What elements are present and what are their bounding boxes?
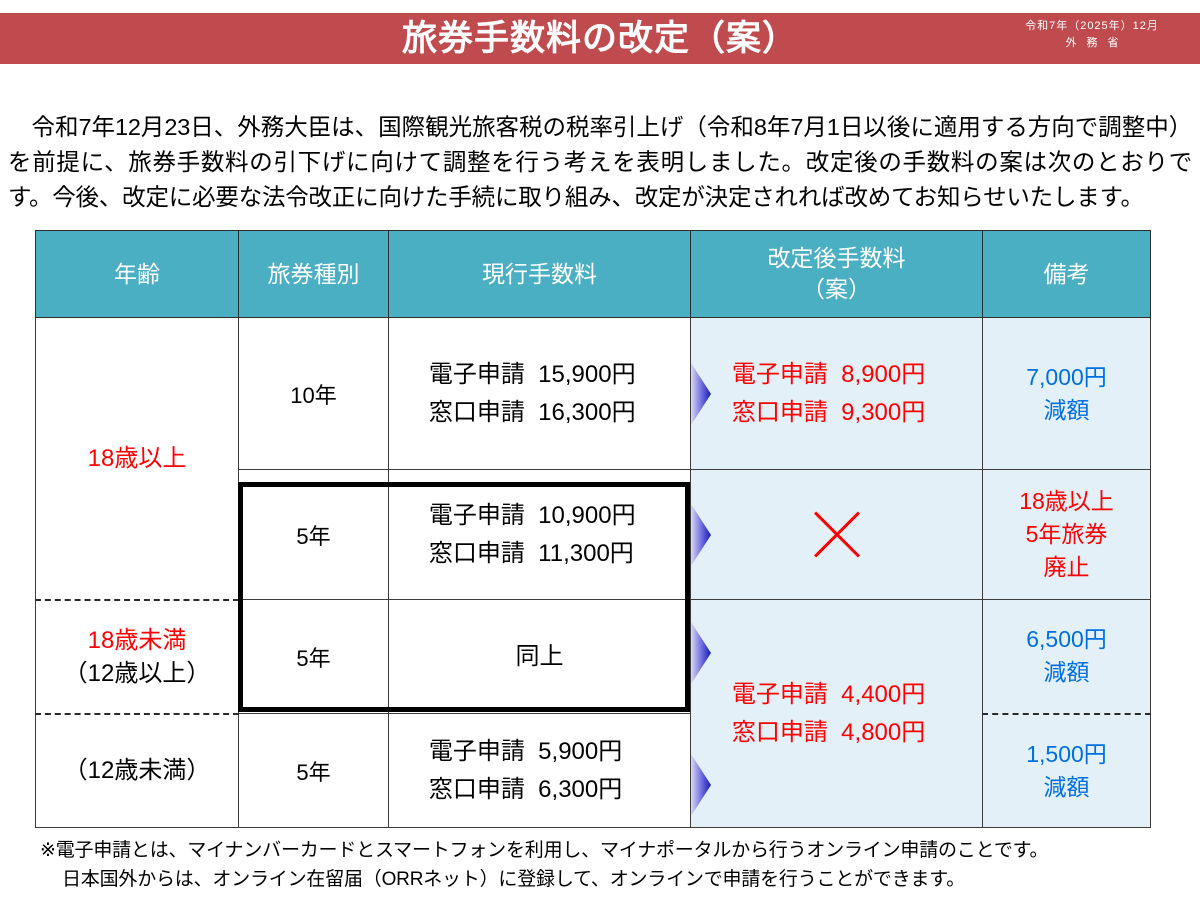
abolished-x-icon: [806, 504, 868, 566]
column-header-revised-fee-line1: 改定後手数料: [768, 245, 906, 271]
revised-fee-counter-row3: 窓口申請 4,800円: [691, 714, 982, 752]
cell-current-fee-row3: 同上: [389, 600, 691, 714]
note-row2-line3: 廃止: [1044, 554, 1090, 580]
footnote-line-2: 日本国外からは、オンライン在留届（ORRネット）に登録して、オンラインで申請を行…: [40, 865, 1180, 894]
cell-revised-fee-row2: [691, 470, 983, 600]
note-amount-row3: 6,500円: [1026, 626, 1107, 652]
column-header-revised-fee: 改定後手数料 （案）: [691, 231, 983, 318]
footnotes: ※電子申請とは、マイナンバーカードとスマートフォンを利用し、マイナポータルから行…: [40, 836, 1180, 894]
table-header-row: 年齢 旅券種別 現行手数料 改定後手数料 （案） 備考: [36, 231, 1151, 318]
note-reduction-row4: 減額: [1044, 774, 1090, 800]
column-header-note: 備考: [983, 231, 1151, 318]
age-label-under18: 18歳未満: [88, 627, 187, 654]
cell-revised-fee-row1: 電子申請 8,900円 窓口申請 9,300円: [691, 318, 983, 470]
revised-fee-counter-row1: 窓口申請 9,300円: [691, 394, 982, 432]
column-header-revised-fee-line2: （案）: [802, 276, 871, 302]
age-label-18-and-over: 18歳以上: [88, 445, 187, 472]
cell-note-row2: 18歳以上 5年旅券 廃止: [983, 470, 1151, 600]
age-label-under12: （12歳未満）: [64, 757, 211, 784]
table-row: 18歳以上 10年 電子申請 15,900円 窓口申請 16,300円: [36, 318, 1151, 470]
column-header-passport-type: 旅券種別: [239, 231, 389, 318]
cell-type-10y: 10年: [239, 318, 389, 470]
current-fee-counter-row4: 窓口申請 6,300円: [389, 771, 690, 809]
cell-revised-fee-row3: 電子申請 4,400円: [691, 600, 983, 714]
page-header-bar: 旅券手数料の改定（案） 令和7年（2025年）12月 外務省: [0, 13, 1200, 64]
fee-table: 年齢 旅券種別 現行手数料 改定後手数料 （案） 備考 18歳以上 10年 電子…: [35, 230, 1151, 828]
cell-current-fee-row1: 電子申請 15,900円 窓口申請 16,300円: [389, 318, 691, 470]
revised-fee-online-row1: 電子申請 8,900円: [691, 356, 982, 394]
note-row2-line1: 18歳以上: [1019, 488, 1114, 514]
table-row: （12歳未満） 5年 電子申請 5,900円 窓口申請 6,300円: [36, 714, 1151, 828]
cell-type-5y-under12: 5年: [239, 714, 389, 828]
cell-note-row4: 1,500円 減額: [983, 714, 1151, 828]
cell-current-fee-row4: 電子申請 5,900円 窓口申請 6,300円: [389, 714, 691, 828]
table-row: 18歳未満 （12歳以上） 5年 同上 電子申請 4,400円: [36, 600, 1151, 714]
arrow-right-icon: [691, 754, 713, 816]
column-header-age: 年齢: [36, 231, 239, 318]
note-reduction-row3: 減額: [1044, 659, 1090, 685]
cell-type-5y-over18: 5年: [239, 470, 389, 600]
column-header-current-fee: 現行手数料: [389, 231, 691, 318]
note-amount-row1: 7,000円: [1026, 364, 1107, 390]
header-date: 令和7年（2025年）12月: [992, 18, 1192, 35]
current-fee-counter-row1: 窓口申請 16,300円: [389, 394, 690, 432]
header-ministry: 外務省: [992, 35, 1192, 52]
cell-age-under18: 18歳未満 （12歳以上）: [36, 600, 239, 714]
note-reduction-row1: 減額: [1044, 397, 1090, 423]
current-fee-counter-row2: 窓口申請 11,300円: [389, 535, 690, 573]
cell-type-5y-under18: 5年: [239, 600, 389, 714]
age-sublabel-12-and-over: （12歳以上）: [64, 660, 211, 687]
note-row2-line2: 5年旅券: [1026, 521, 1108, 547]
current-fee-online-row4: 電子申請 5,900円: [389, 733, 690, 771]
revised-fee-online-row3: 電子申請 4,400円: [691, 676, 982, 714]
footnote-line-1: ※電子申請とは、マイナンバーカードとスマートフォンを利用し、マイナポータルから行…: [40, 836, 1180, 865]
arrow-right-icon: [691, 504, 713, 566]
cell-age-18-and-over: 18歳以上: [36, 318, 239, 600]
cell-note-row3: 6,500円 減額: [983, 600, 1151, 714]
fee-table-container: 年齢 旅券種別 現行手数料 改定後手数料 （案） 備考 18歳以上 10年 電子…: [35, 230, 1150, 826]
cell-age-under12: （12歳未満）: [36, 714, 239, 828]
cell-current-fee-row2: 電子申請 10,900円 窓口申請 11,300円: [389, 470, 691, 600]
current-fee-online-row1: 電子申請 15,900円: [389, 356, 690, 394]
cell-revised-fee-row4: 窓口申請 4,800円: [691, 714, 983, 828]
header-meta: 令和7年（2025年）12月 外務省: [992, 18, 1192, 52]
intro-paragraph: 令和7年12月23日、外務大臣は、国際観光旅客税の税率引上げ（令和8年7月1日以…: [8, 110, 1192, 215]
current-fee-online-row2: 電子申請 10,900円: [389, 497, 690, 535]
cell-note-row1: 7,000円 減額: [983, 318, 1151, 470]
note-amount-row4: 1,500円: [1026, 741, 1107, 767]
